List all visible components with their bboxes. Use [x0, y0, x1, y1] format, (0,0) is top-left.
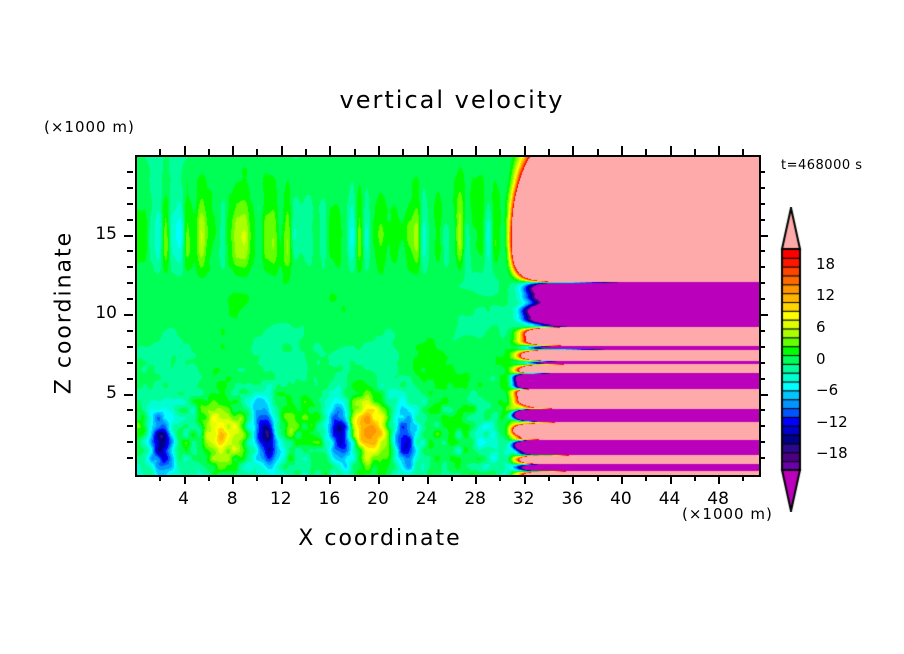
x-axis-minor-tick	[742, 149, 744, 155]
y-axis-minor-tick	[127, 203, 133, 205]
x-axis-major-tick	[572, 146, 574, 155]
x-axis-minor-tick	[548, 475, 550, 481]
x-axis-minor-tick	[305, 475, 307, 481]
y-axis-minor-tick	[127, 409, 133, 411]
x-axis-major-tick	[378, 146, 380, 155]
x-axis-minor-tick	[305, 149, 307, 155]
y-axis-minor-tick	[127, 219, 133, 221]
y-axis-minor-tick	[759, 250, 765, 252]
x-axis-major-tick	[524, 146, 526, 155]
colorbar-tick-label: −6	[816, 381, 838, 399]
y-axis-major-tick	[759, 394, 768, 396]
y-axis-minor-tick	[127, 282, 133, 284]
y-axis-major-tick	[759, 235, 768, 237]
y-axis-minor-tick	[759, 330, 765, 332]
x-axis-major-tick	[718, 146, 720, 155]
x-axis-minor-tick	[742, 475, 744, 481]
x-axis-major-tick	[427, 146, 429, 155]
x-axis-major-tick	[281, 475, 283, 484]
y-axis-tick-label: 15	[77, 224, 117, 244]
contour-plot-area	[135, 155, 761, 477]
x-axis-major-tick	[524, 475, 526, 484]
y-axis-minor-tick	[759, 171, 765, 173]
x-axis-major-tick	[572, 475, 574, 484]
y-axis-minor-tick	[127, 378, 133, 380]
page-title: vertical velocity	[0, 86, 904, 114]
y-axis-minor-tick	[759, 378, 765, 380]
x-axis-minor-tick	[256, 475, 258, 481]
x-axis-major-tick	[329, 475, 331, 484]
x-axis-major-tick	[475, 146, 477, 155]
y-axis-minor-tick	[759, 441, 765, 443]
y-axis-major-tick	[124, 235, 133, 237]
y-axis-minor-tick	[127, 187, 133, 189]
x-axis-minor-tick	[694, 475, 696, 481]
y-axis-minor-tick	[127, 346, 133, 348]
x-axis-minor-tick	[499, 475, 501, 481]
y-axis-minor-tick	[127, 425, 133, 427]
y-axis-minor-tick	[759, 362, 765, 364]
y-axis-minor-tick	[127, 362, 133, 364]
x-axis-major-tick	[427, 475, 429, 484]
x-axis-major-tick	[281, 146, 283, 155]
y-axis-minor-tick	[759, 425, 765, 427]
x-axis-minor-tick	[402, 475, 404, 481]
y-axis-minor-tick	[759, 266, 765, 268]
colorbar-tick-label: −12	[816, 413, 848, 431]
colorbar	[779, 207, 807, 512]
y-axis-minor-tick	[759, 409, 765, 411]
x-axis-minor-tick	[451, 149, 453, 155]
colorbar-tick-label: 0	[816, 350, 826, 368]
y-axis-minor-tick	[127, 298, 133, 300]
x-axis-minor-tick	[402, 149, 404, 155]
x-axis-minor-tick	[499, 149, 501, 155]
x-axis-minor-tick	[451, 475, 453, 481]
x-axis-major-tick	[670, 475, 672, 484]
x-axis-major-tick	[232, 146, 234, 155]
colorbar-tick-label: 12	[816, 286, 835, 304]
x-axis-major-tick	[378, 475, 380, 484]
x-axis-major-tick	[718, 475, 720, 484]
y-axis-minor-tick	[127, 250, 133, 252]
x-axis-major-tick	[184, 146, 186, 155]
x-axis-minor-tick	[354, 149, 356, 155]
x-axis-major-tick	[621, 146, 623, 155]
x-axis-minor-tick	[208, 149, 210, 155]
colorbar-tick-label: 18	[816, 255, 835, 273]
y-axis-minor-tick	[127, 266, 133, 268]
colorbar-tick-label: −18	[816, 444, 848, 462]
y-axis-minor-tick	[127, 330, 133, 332]
y-axis-title: Z coordinate	[52, 213, 77, 413]
x-axis-major-tick	[621, 475, 623, 484]
x-axis-minor-tick	[354, 475, 356, 481]
x-axis-minor-tick	[159, 475, 161, 481]
y-axis-minor-tick	[759, 298, 765, 300]
y-axis-major-tick	[124, 314, 133, 316]
x-axis-minor-tick	[548, 149, 550, 155]
y-axis-minor-tick	[127, 441, 133, 443]
y-axis-tick-label: 5	[77, 383, 117, 403]
y-axis-minor-tick	[759, 457, 765, 459]
y-axis-minor-tick	[759, 219, 765, 221]
x-axis-major-tick	[329, 146, 331, 155]
y-axis-minor-tick	[759, 203, 765, 205]
y-axis-tick-label: 10	[77, 303, 117, 323]
contour-field-canvas	[137, 157, 759, 475]
y-axis-minor-tick	[759, 346, 765, 348]
x-axis-minor-tick	[597, 475, 599, 481]
x-axis-minor-tick	[694, 149, 696, 155]
colorbar-canvas	[779, 207, 807, 512]
y-axis-unit-label: (×1000 m)	[44, 118, 135, 136]
x-axis-tick-label: 48	[688, 489, 748, 509]
x-axis-minor-tick	[159, 149, 161, 155]
x-axis-major-tick	[475, 475, 477, 484]
y-axis-minor-tick	[759, 282, 765, 284]
colorbar-tick-label: 6	[816, 318, 826, 336]
y-axis-major-tick	[124, 394, 133, 396]
time-annotation: t=468000 s	[781, 158, 863, 173]
x-axis-major-tick	[232, 475, 234, 484]
y-axis-minor-tick	[127, 457, 133, 459]
x-axis-major-tick	[184, 475, 186, 484]
x-axis-major-tick	[670, 146, 672, 155]
x-axis-minor-tick	[256, 149, 258, 155]
x-axis-title: X coordinate	[0, 526, 760, 551]
x-axis-minor-tick	[645, 149, 647, 155]
y-axis-minor-tick	[759, 187, 765, 189]
y-axis-minor-tick	[127, 171, 133, 173]
x-axis-minor-tick	[645, 475, 647, 481]
y-axis-major-tick	[759, 314, 768, 316]
x-axis-minor-tick	[597, 149, 599, 155]
x-axis-minor-tick	[208, 475, 210, 481]
